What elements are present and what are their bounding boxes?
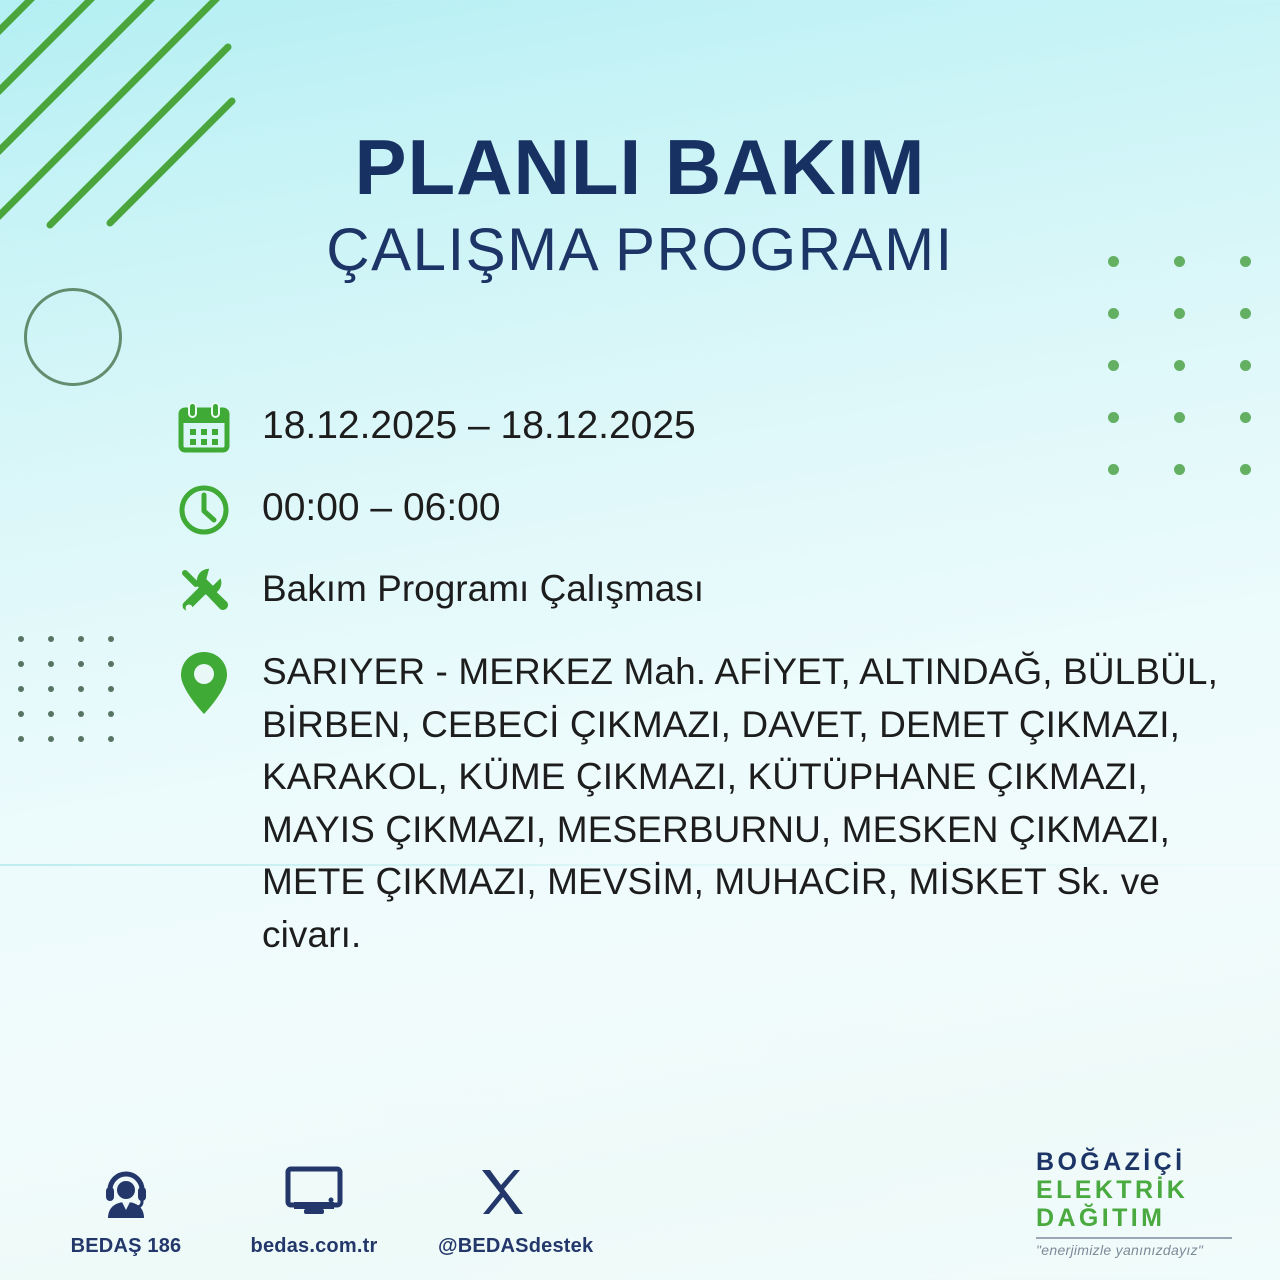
poster-header: PLANLI BAKIM ÇALIŞMA PROGRAMI xyxy=(0,128,1280,280)
logo-line-elektrik: ELEKTRİK xyxy=(1036,1176,1244,1204)
dot-grid-decoration-left xyxy=(18,636,138,761)
clock-icon xyxy=(176,480,262,538)
detail-value-date: 18.12.2025 – 18.12.2025 xyxy=(262,398,696,445)
circle-outline-decoration xyxy=(24,288,122,386)
detail-value-location: SARIYER - MERKEZ Mah. AFİYET, ALTINDAĞ, … xyxy=(262,646,1220,961)
logo-divider xyxy=(1036,1237,1232,1239)
contact-channels: BEDAŞ 186 bedas.com.tr @BEDASdestek xyxy=(62,1155,566,1258)
location-pin-icon xyxy=(176,646,262,718)
poster-footer: BEDAŞ 186 bedas.com.tr @BEDASdestek xyxy=(0,1105,1280,1280)
contact-social-x-label: @BEDASdestek xyxy=(438,1235,566,1258)
detail-row-location: SARIYER - MERKEZ Mah. AFİYET, ALTINDAĞ, … xyxy=(176,646,1236,961)
logo-line-bogazici: BOĞAZİÇİ xyxy=(1036,1148,1244,1176)
monitor-icon xyxy=(250,1155,378,1229)
company-logo: BOĞAZİÇİ ELEKTRİK DAĞITIM "enerjimizle y… xyxy=(1036,1148,1244,1258)
detail-row-time: 00:00 – 06:00 xyxy=(176,480,1236,538)
contact-website[interactable]: bedas.com.tr xyxy=(250,1155,378,1258)
x-twitter-icon xyxy=(438,1155,566,1229)
contact-phone-label: BEDAŞ 186 xyxy=(62,1235,190,1258)
contact-website-label: bedas.com.tr xyxy=(250,1235,378,1258)
detail-row-work-type: Bakım Programı Çalışması xyxy=(176,562,1236,620)
headset-support-icon xyxy=(62,1155,190,1229)
contact-phone[interactable]: BEDAŞ 186 xyxy=(62,1155,190,1258)
logo-tagline: "enerjimizle yanınızdayız" xyxy=(1036,1242,1244,1258)
page-title: PLANLI BAKIM xyxy=(0,128,1280,206)
detail-value-work-type: Bakım Programı Çalışması xyxy=(262,562,704,607)
contact-social-x[interactable]: @BEDASdestek xyxy=(438,1155,566,1258)
outage-details: 18.12.2025 – 18.12.2025 00:00 – 06:00 Ba… xyxy=(176,398,1236,961)
tools-icon xyxy=(176,562,262,620)
calendar-icon xyxy=(176,398,262,456)
detail-value-time: 00:00 – 06:00 xyxy=(262,480,501,527)
detail-row-date: 18.12.2025 – 18.12.2025 xyxy=(176,398,1236,456)
page-subtitle: ÇALIŞMA PROGRAMI xyxy=(0,220,1280,280)
logo-line-dagitim: DAĞITIM xyxy=(1036,1204,1244,1232)
